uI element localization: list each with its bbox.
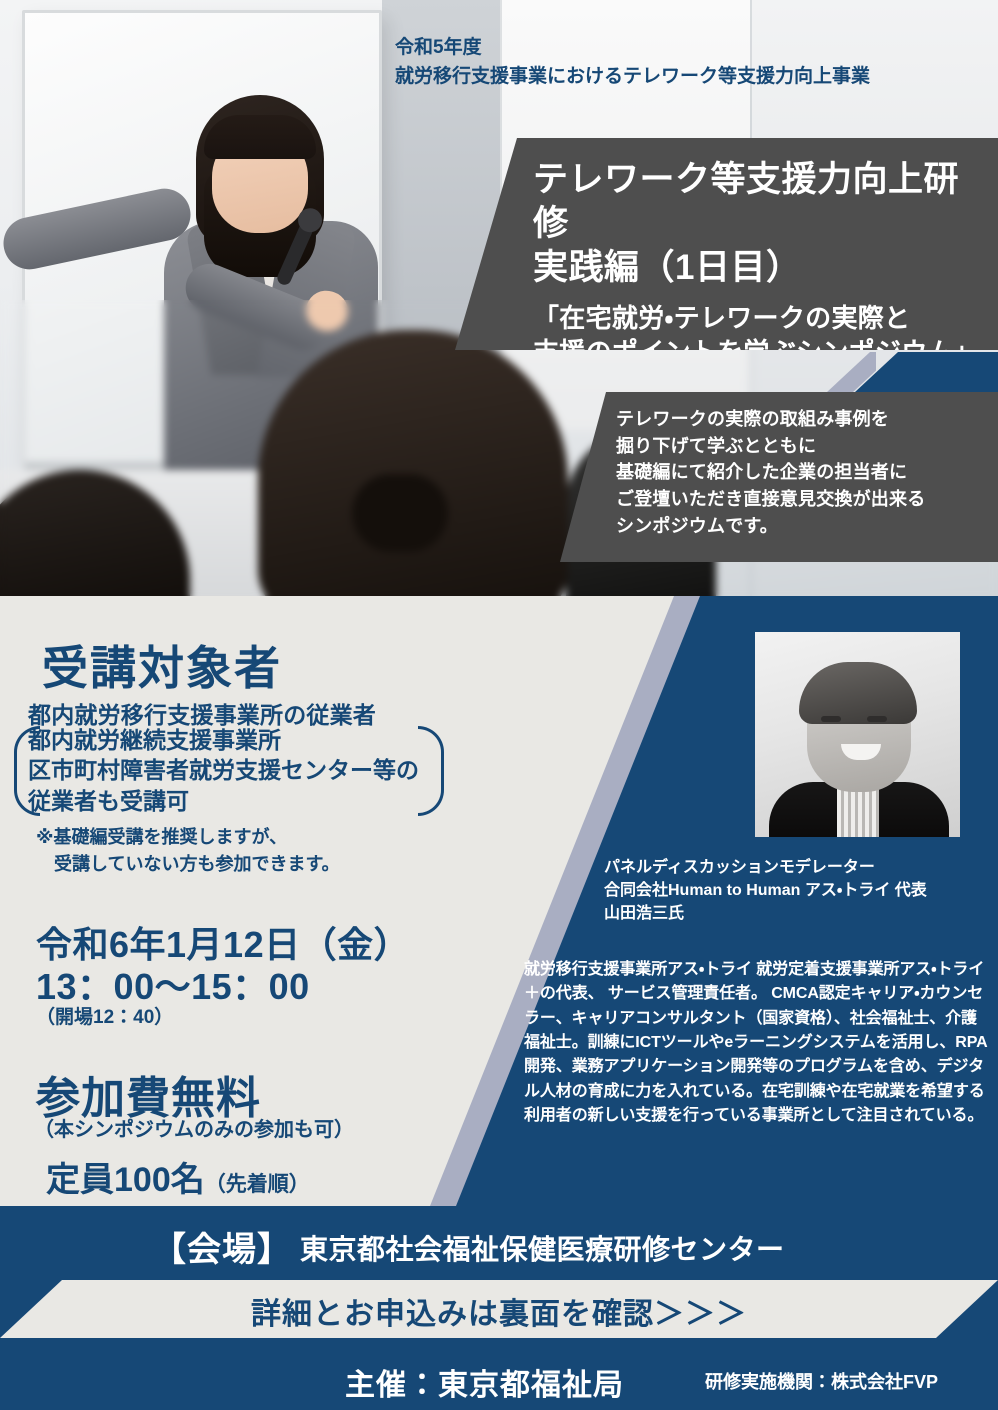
speaker-striped-shirt [837, 786, 879, 837]
host-organization: 主催：東京都福祉局 [345, 1360, 624, 1404]
seminar-title: テレワーク等支援力向上研修 実践編（1日目） [533, 158, 982, 290]
audience-note: ※基礎編受講を推奨しますが、 受講していない方も参加できます。 [36, 824, 466, 878]
doors-open-time: （開場12：40） [36, 1002, 173, 1029]
flyer-page: 令和5年度 就労移行支援事業におけるテレワーク等支援力向上事業 テレワーク等支援… [0, 0, 998, 1410]
program-overline: 令和5年度 就労移行支援事業におけるテレワーク等支援力向上事業 [395, 34, 995, 92]
speaker-eye-left [821, 716, 841, 722]
apply-instruction[interactable]: 詳細とお申込みは裏面を確認＞＞＞ [0, 1289, 998, 1333]
speaker-portrait-photo [755, 632, 960, 837]
capacity-note: （先着順） [205, 1173, 310, 1196]
executing-organization: 研修実施機関：株式会社FVP [705, 1368, 938, 1394]
speaker-role-and-name: パネルディスカッションモデレーター 合同会社Human to Human アス・… [604, 856, 994, 926]
capacity-line: 定員100名（先着順） [46, 1152, 310, 1201]
audience-parenthetical: 都内就労継続支援事業所 区市町村障害者就労支援センター等の 従業者も受講可 [14, 726, 444, 816]
venue-name: 東京都社会福祉保健医療研修センター [300, 1228, 785, 1268]
speaker-hair [799, 662, 917, 724]
speaker-eye-right [867, 716, 887, 722]
venue-label: 【会場】 [152, 1222, 292, 1271]
description-block: テレワークの実際の取組み事例を 掘り下げて学ぶとともに 基礎編にて紹介した企業の… [560, 392, 998, 562]
audience-heading: 受講対象者 [42, 632, 282, 698]
presenter-bangs [204, 115, 316, 159]
fee-note: （本シンポジウムのみの参加も可） [34, 1113, 354, 1142]
capacity-value: 定員100名 [46, 1161, 205, 1199]
speaker-biography: 就労移行支援事業所アス・トライ 就労定着支援事業所アス・トライ＋の代表、 サービ… [524, 958, 990, 1128]
title-block: テレワーク等支援力向上研修 実践編（1日目） 「在宅就労・テレワークの実際と 支… [455, 138, 998, 350]
audience-secondary-lines: 都内就労継続支援事業所 区市町村障害者就労支援センター等の 従業者も受講可 [28, 725, 428, 816]
